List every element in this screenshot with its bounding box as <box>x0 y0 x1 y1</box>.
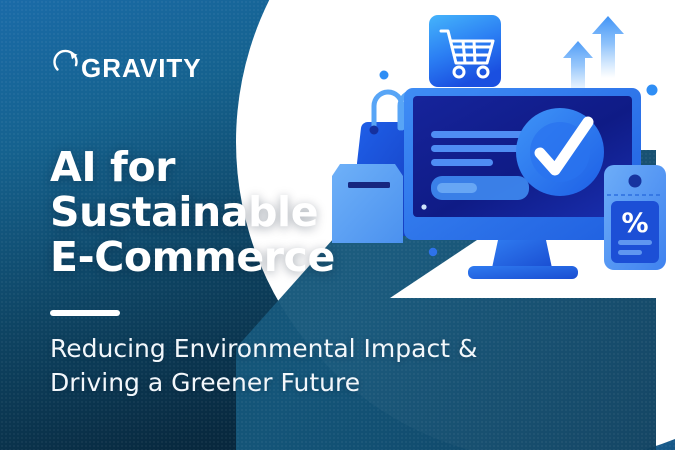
arrow-up-icon <box>592 16 624 78</box>
brand-logo[interactable]: GRAVITY <box>50 48 202 88</box>
accent-dot <box>647 85 658 96</box>
tag-percent-symbol: % <box>621 208 648 239</box>
promo-banner: GRAVITY AI for Sustainable E-Commerce Re… <box>0 0 675 450</box>
page-subtitle: Reducing Environmental Impact & Driving … <box>50 332 477 400</box>
check-circle-icon <box>516 108 604 196</box>
title-divider <box>50 310 120 316</box>
ecommerce-illustration: % <box>300 0 675 300</box>
headline-line-1: AI for <box>50 145 335 190</box>
screen-line <box>431 159 493 166</box>
subtitle-line-1: Reducing Environmental Impact & <box>50 332 477 366</box>
screen-line <box>431 145 529 152</box>
arrow-up-icon <box>563 41 593 96</box>
screen-line <box>431 131 529 138</box>
circular-arrow-swoosh-icon <box>50 51 80 85</box>
discount-tag-icon: % <box>604 165 666 270</box>
shopping-bag-icon <box>332 164 403 243</box>
brand-name: GRAVITY <box>81 55 202 81</box>
subtitle-line-2: Driving a Greener Future <box>50 366 477 400</box>
headline-line-3: E-Commerce <box>50 235 335 280</box>
page-title: AI for Sustainable E-Commerce <box>50 145 335 280</box>
accent-dot <box>380 71 389 80</box>
headline-line-2: Sustainable <box>50 190 335 235</box>
shopping-cart-icon[interactable] <box>429 15 501 87</box>
